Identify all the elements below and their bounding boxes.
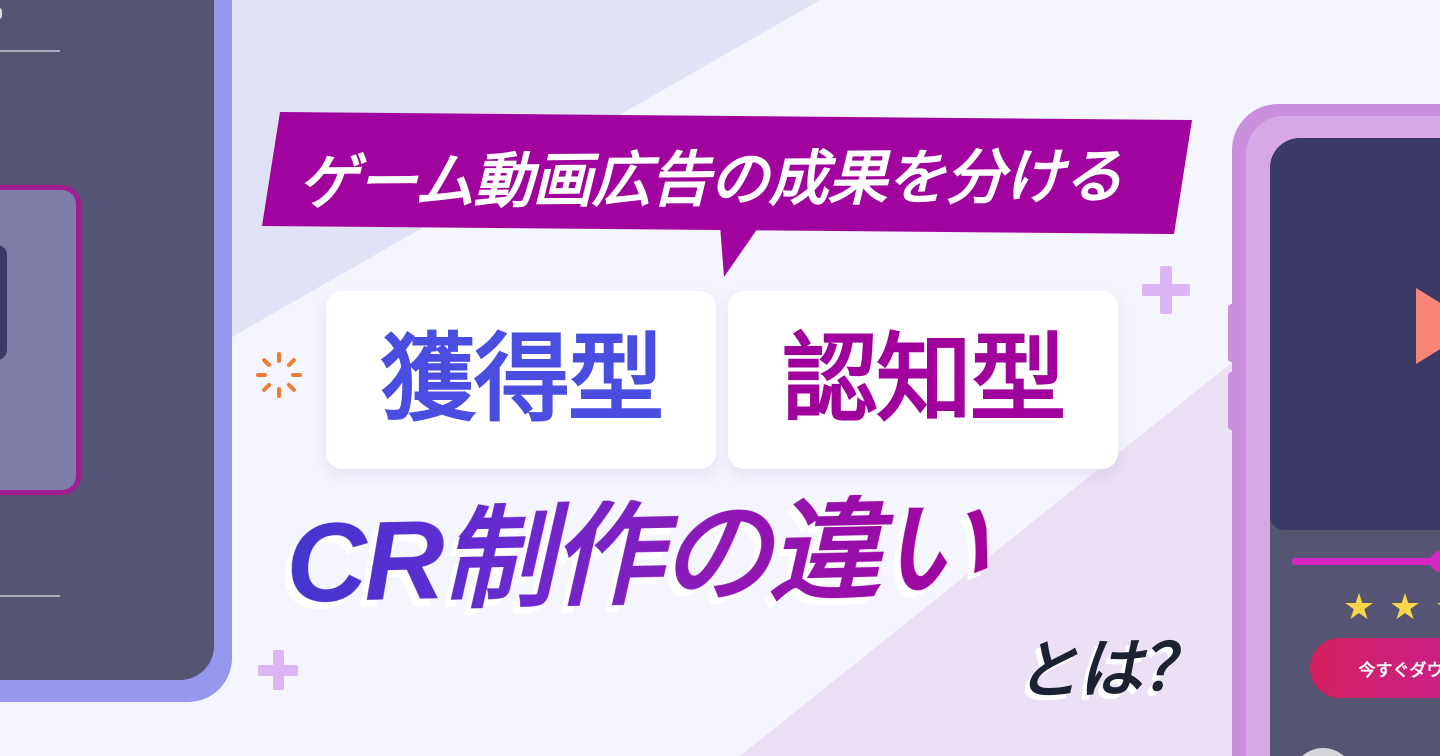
avatar	[1292, 748, 1354, 756]
type-card-group: 獲得型 認知型	[326, 291, 1118, 469]
headline-sub: とは？	[1014, 616, 1205, 712]
banner-text: ゲーム動画広告の成果を分ける	[298, 121, 1169, 228]
play-icon[interactable]	[1416, 288, 1440, 364]
type-card-acquisition[interactable]: 獲得型	[326, 291, 716, 469]
banner-tail	[720, 225, 760, 277]
type-card-acquisition-label: 獲得型	[380, 332, 662, 428]
video-progress-slider[interactable]	[1292, 558, 1440, 565]
plus-icon	[258, 650, 298, 690]
highlighted-ad-card[interactable]: ダウンロード	[0, 190, 76, 490]
video-thumbnail[interactable]	[0, 245, 7, 360]
install-now-button[interactable]: 今すぐダウンロード	[1310, 638, 1440, 698]
rating-star-icon: ★	[1342, 590, 1376, 624]
progress-knob[interactable]	[1430, 551, 1440, 572]
rating-star-icon: ★	[1434, 590, 1440, 624]
install-now-label: 今すぐダウンロード	[1359, 656, 1440, 681]
video-player[interactable]	[1270, 138, 1440, 530]
poster-canvas: ダウンロード ★ ★ ★	[0, 0, 1440, 756]
volume-up-button[interactable]	[1228, 304, 1235, 362]
sparkle-icon	[252, 348, 306, 402]
progress-fill	[1292, 558, 1440, 565]
phone-mockup-right: ★ ★ ★ 今すぐダウンロード	[1232, 104, 1440, 756]
plus-icon	[1142, 266, 1190, 314]
rating-star-icon: ★	[1388, 590, 1422, 624]
phone-mockup-left: ダウンロード	[0, 0, 232, 702]
volume-down-button[interactable]	[1228, 372, 1235, 430]
banner: ゲーム動画広告の成果を分ける	[262, 112, 1192, 272]
headline-main: CR制作の違い	[285, 492, 988, 620]
phone-right-screen: ★ ★ ★ 今すぐダウンロード	[1270, 138, 1440, 756]
phone-left-screen: ダウンロード	[0, 0, 214, 680]
page-title: CR制作の違い とは？	[286, 500, 1186, 630]
divider	[0, 595, 60, 597]
placeholder-bar	[0, 8, 2, 19]
phone-right-bezel: ★ ★ ★ 今すぐダウンロード	[1246, 116, 1440, 756]
divider	[0, 50, 60, 52]
type-card-awareness[interactable]: 認知型	[728, 291, 1118, 469]
type-card-awareness-label: 認知型	[782, 332, 1064, 428]
